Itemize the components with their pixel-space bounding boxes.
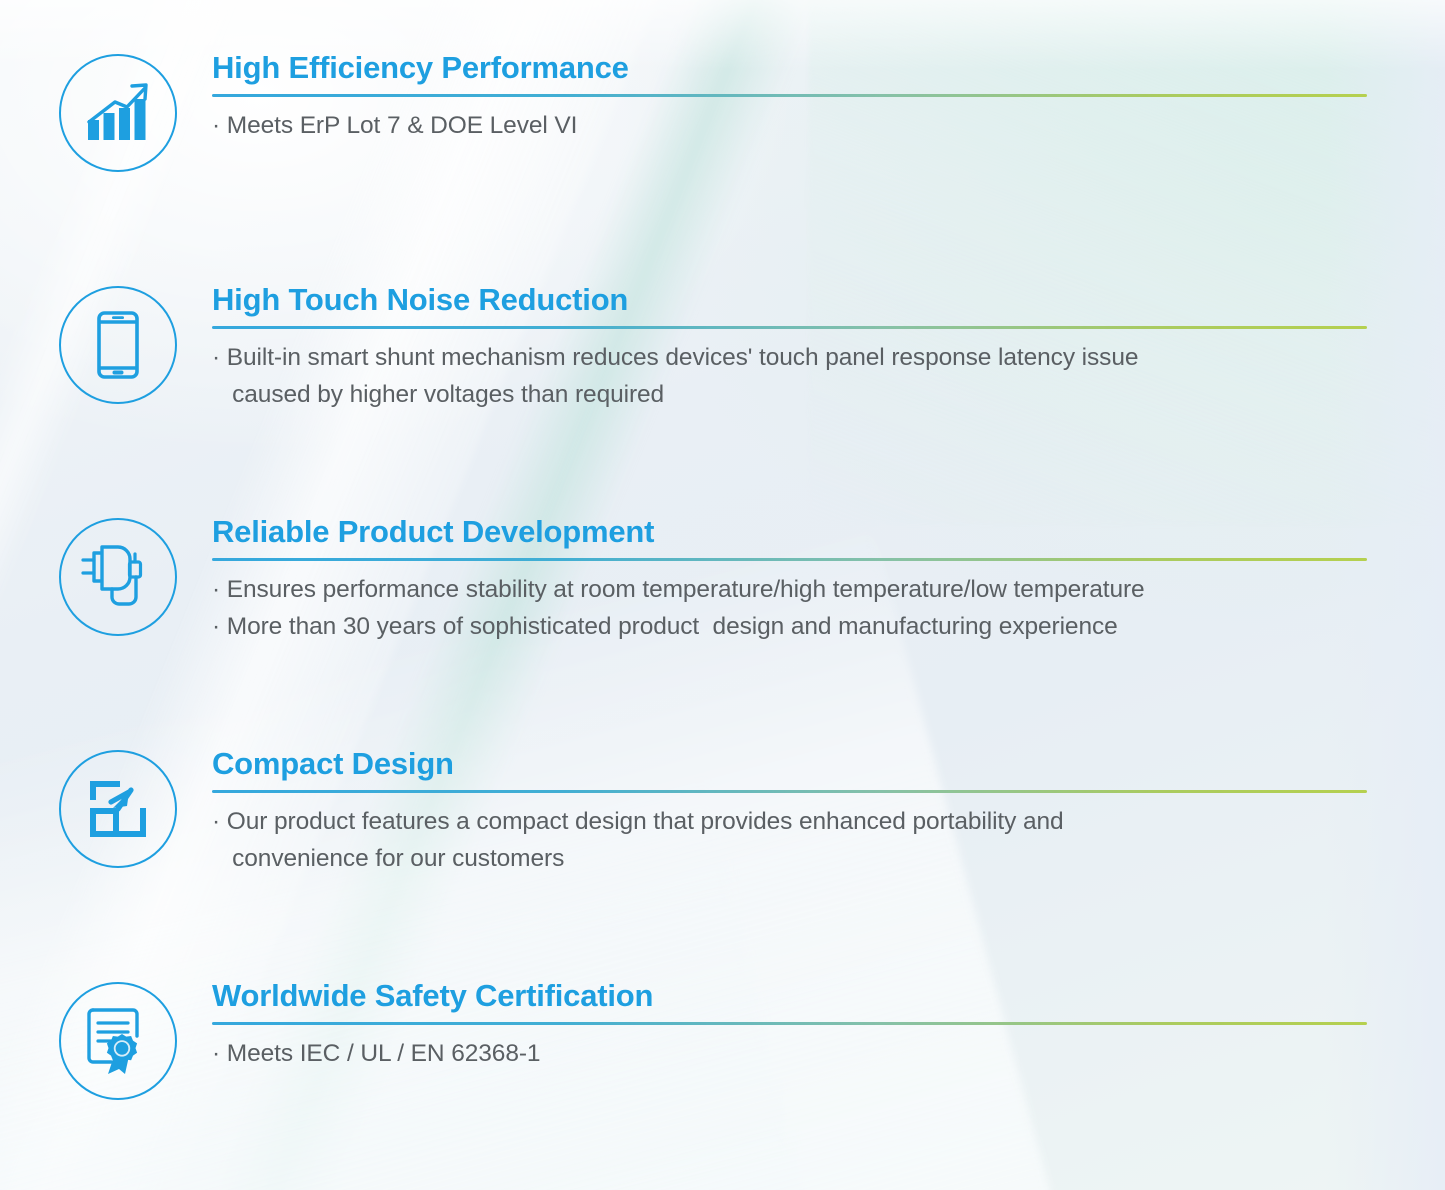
power-adapter-icon	[59, 518, 177, 636]
feature-description: · Ensures performance stability at room …	[212, 571, 1367, 645]
feature-title: Worldwide Safety Certification	[212, 976, 1367, 1016]
feature-description: · Our product features a compact design …	[212, 803, 1367, 877]
feature-bullet-line: · Meets ErP Lot 7 & DOE Level VI	[212, 107, 1367, 144]
feature-bullet-line: · More than 30 years of sophisticated pr…	[212, 608, 1367, 645]
feature-divider	[212, 1022, 1367, 1025]
feature-bullet-line: · Ensures performance stability at room …	[212, 571, 1367, 608]
feature-bullet-line: · Meets IEC / UL / EN 62368-1	[212, 1035, 1367, 1072]
feature-item-reliable-product-development: Reliable Product Development · Ensures p…	[0, 508, 1445, 740]
feature-title: Reliable Product Development	[212, 512, 1367, 552]
feature-item-worldwide-safety-certification: Worldwide Safety Certification · Meets I…	[0, 972, 1445, 1190]
feature-title: High Touch Noise Reduction	[212, 280, 1367, 320]
feature-description: · Meets IEC / UL / EN 62368-1	[212, 1035, 1367, 1072]
feature-divider	[212, 558, 1367, 561]
feature-item-high-efficiency-performance: High Efficiency Performance · Meets ErP …	[0, 44, 1445, 276]
bar-chart-growth-icon	[59, 54, 177, 172]
feature-divider	[212, 326, 1367, 329]
feature-bullet-line-continued: convenience for our customers	[212, 840, 1367, 877]
feature-list: High Efficiency Performance · Meets ErP …	[0, 0, 1445, 1190]
feature-bullet-line: · Our product features a compact design …	[212, 803, 1367, 840]
feature-description: · Meets ErP Lot 7 & DOE Level VI	[212, 107, 1367, 144]
feature-title: Compact Design	[212, 744, 1367, 784]
certificate-seal-icon	[59, 982, 177, 1100]
feature-body: Reliable Product Development · Ensures p…	[212, 508, 1445, 645]
smartphone-icon	[59, 286, 177, 404]
feature-body: Compact Design · Our product features a …	[212, 740, 1445, 877]
feature-body: High Touch Noise Reduction · Built-in sm…	[212, 276, 1445, 413]
feature-bullet-line-continued: caused by higher voltages than required	[212, 376, 1367, 413]
feature-divider	[212, 94, 1367, 97]
feature-bullet-line: · Built-in smart shunt mechanism reduces…	[212, 339, 1367, 376]
feature-item-high-touch-noise-reduction: High Touch Noise Reduction · Built-in sm…	[0, 276, 1445, 508]
feature-title: High Efficiency Performance	[212, 48, 1367, 88]
compact-resize-icon	[59, 750, 177, 868]
feature-body: High Efficiency Performance · Meets ErP …	[212, 44, 1445, 144]
feature-item-compact-design: Compact Design · Our product features a …	[0, 740, 1445, 972]
feature-description: · Built-in smart shunt mechanism reduces…	[212, 339, 1367, 413]
feature-body: Worldwide Safety Certification · Meets I…	[212, 972, 1445, 1072]
feature-divider	[212, 790, 1367, 793]
